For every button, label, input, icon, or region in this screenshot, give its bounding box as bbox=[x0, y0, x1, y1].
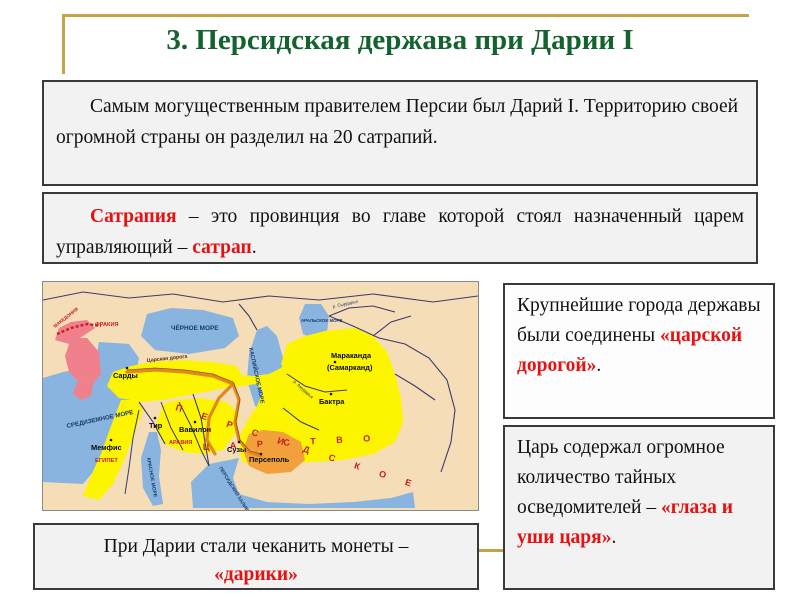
city-label-sardis: Сарды bbox=[113, 371, 138, 380]
text-box-royal-road: Крупнейшие города державы были соединены… bbox=[503, 283, 775, 419]
city-label-marakanda: Мараканда bbox=[331, 351, 372, 360]
roads-text-after: . bbox=[596, 355, 601, 376]
term-satrap: сатрап bbox=[192, 237, 252, 258]
satrapy-line2-after: . bbox=[252, 237, 257, 258]
satrapy-middle-text: – это провинция во главе которой стоял bbox=[177, 206, 562, 227]
gold-rule-top bbox=[62, 14, 749, 17]
city-label-memphis: Мемфис bbox=[91, 443, 122, 452]
region-label-egypt: ЕГИПЕТ bbox=[95, 458, 118, 464]
city-label-persepolis: Персеполь bbox=[249, 455, 290, 464]
term-satrapy: Сатрапия bbox=[90, 206, 177, 227]
persian-empire-map: ЧЁРНОЕ МОРЕ СРЕДИЗЕМНОЕ МОРЕ КАСПИЙСКОЕ … bbox=[42, 281, 479, 511]
city-label-babylon: Вавилон bbox=[179, 425, 211, 434]
sea-label-aral: АРАЛЬСКОЕ МОРЕ bbox=[301, 318, 342, 323]
slide-root: 3. Персидская держава при Дарии I Самым … bbox=[0, 0, 800, 600]
city-label-bactra: Бактра bbox=[319, 397, 345, 406]
satraps-text: Самым могущественным правителем Персии б… bbox=[56, 96, 738, 148]
text-box-darics: При Дарии стали чеканить монеты – «дарик… bbox=[33, 523, 479, 590]
darics-line1: При Дарии стали чеканить монеты – bbox=[43, 533, 469, 561]
region-label-arabia: АРАВИЯ bbox=[169, 440, 192, 446]
text-box-satrapy-definition: Сатрапия – это провинция во главе которо… bbox=[42, 192, 758, 264]
city-label-tyre: Тир bbox=[149, 421, 163, 430]
city-label-samarkand: (Самарканд) bbox=[327, 363, 373, 372]
spies-text-after: . bbox=[611, 527, 616, 548]
text-box-spies: Царь содержал огромное количество тайных… bbox=[503, 425, 775, 590]
text-box-satraps: Самым могущественным правителем Персии б… bbox=[42, 80, 758, 186]
page-title: 3. Персидская держава при Дарии I bbox=[0, 24, 800, 57]
gold-connector bbox=[479, 549, 503, 552]
map-svg: ЧЁРНОЕ МОРЕ СРЕДИЗЕМНОЕ МОРЕ КАСПИЙСКОЕ … bbox=[43, 282, 478, 510]
sea-label-black: ЧЁРНОЕ МОРЕ bbox=[171, 324, 219, 332]
region-label-thrace: ФРАКИЯ bbox=[95, 322, 119, 328]
city-label-susa: Сузы bbox=[227, 445, 246, 454]
darics-highlight: «дарики» bbox=[43, 561, 469, 589]
